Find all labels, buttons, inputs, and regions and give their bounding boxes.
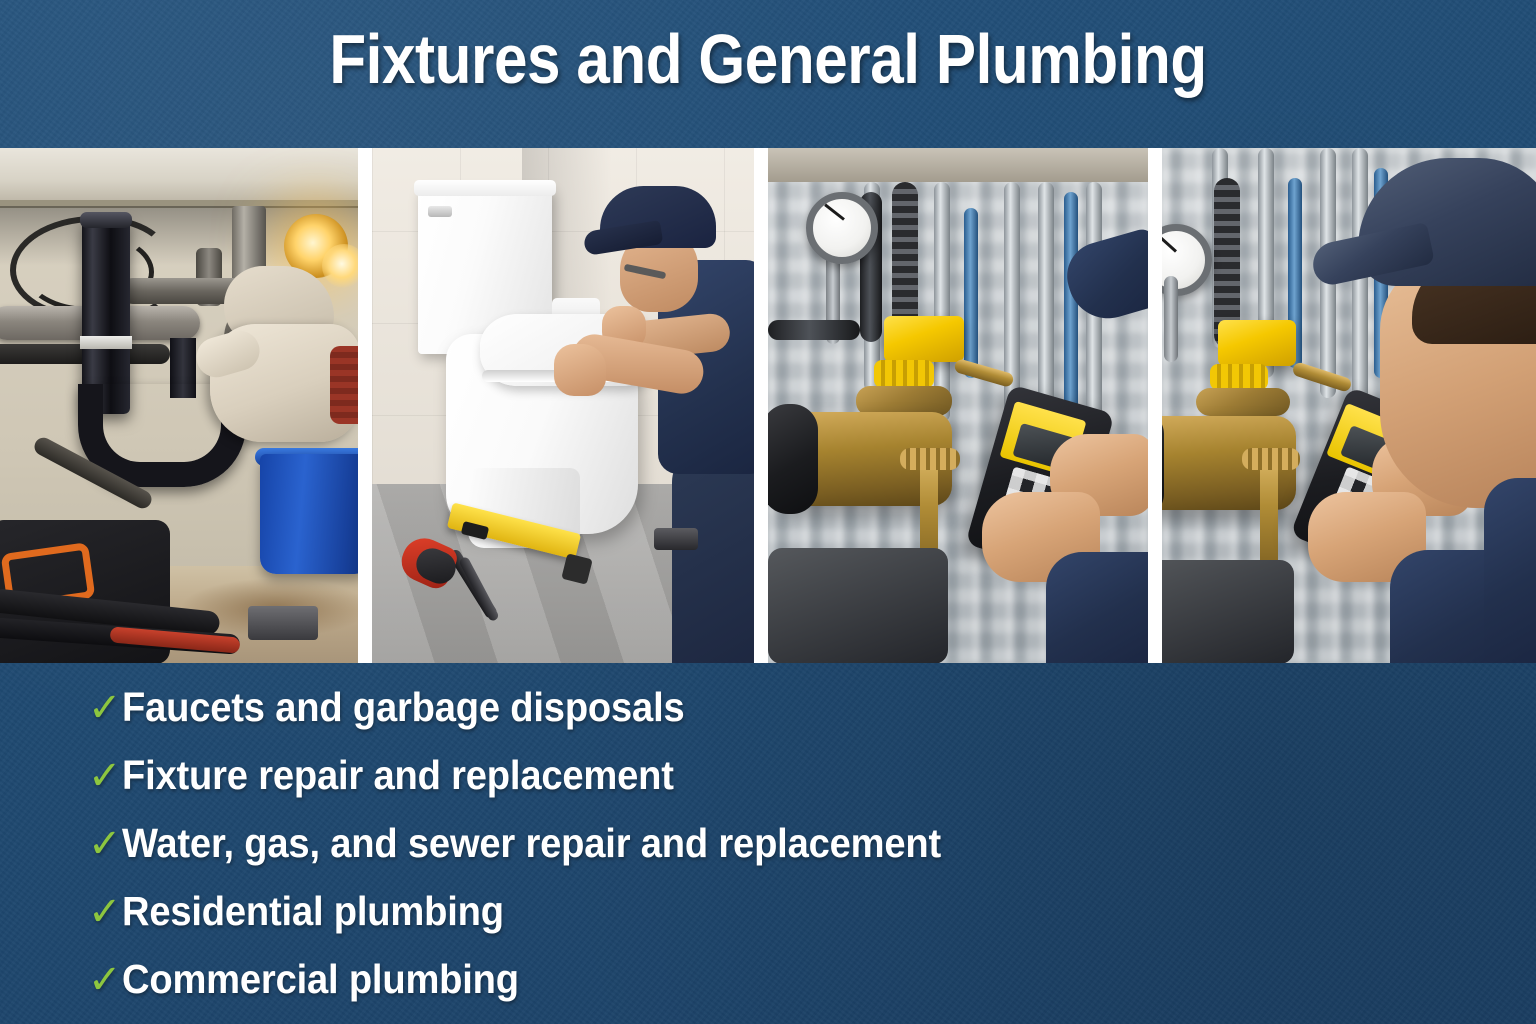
hand-icon <box>554 344 606 396</box>
commercial-pipe-scene <box>768 148 1148 663</box>
pressure-gauge-icon <box>806 192 878 264</box>
list-item: ✓ Water, gas, and sewer repair and repla… <box>88 822 1468 865</box>
panel-divider <box>754 148 768 663</box>
list-item: ✓ Fixture repair and replacement <box>88 754 1468 797</box>
photo-panel-commercial-pipe-gallery <box>768 148 1148 663</box>
photo-panel-technician-testing-meter <box>1162 148 1536 663</box>
list-item-label: Faucets and garbage disposals <box>122 686 685 729</box>
list-item: ✓ Commercial plumbing <box>88 958 1468 1001</box>
list-item-label: Water, gas, and sewer repair and replace… <box>122 822 941 865</box>
list-item-label: Residential plumbing <box>122 890 504 933</box>
list-item-label: Commercial plumbing <box>122 958 519 1001</box>
blue-bucket-icon <box>260 454 358 574</box>
technician-meter-scene <box>1162 148 1536 663</box>
valve-actuator-icon <box>1218 320 1296 366</box>
valve-actuator-icon <box>884 316 964 362</box>
check-icon: ✓ <box>88 892 122 932</box>
under-sink-scene <box>0 148 358 663</box>
photo-panel-toilet-installation <box>372 148 754 663</box>
check-icon: ✓ <box>88 960 122 1000</box>
flush-button-icon <box>428 206 452 217</box>
page-title: Fixtures and General Plumbing <box>108 24 1429 94</box>
list-item: ✓ Residential plumbing <box>88 890 1468 933</box>
check-icon: ✓ <box>88 824 122 864</box>
slide-root: Fixtures and General Plumbing <box>0 0 1536 1024</box>
photo-panel-under-sink-drain-repair <box>0 148 358 663</box>
check-icon: ✓ <box>88 688 122 728</box>
check-icon: ✓ <box>88 756 122 796</box>
photo-strip <box>0 148 1536 663</box>
list-item: ✓ Faucets and garbage disposals <box>88 686 1468 729</box>
panel-divider <box>358 148 372 663</box>
toilet-installation-scene <box>372 148 754 663</box>
panel-divider <box>1148 148 1162 663</box>
list-item-label: Fixture repair and replacement <box>122 754 674 797</box>
feature-list: ✓ Faucets and garbage disposals ✓ Fixtur… <box>88 686 1468 1024</box>
